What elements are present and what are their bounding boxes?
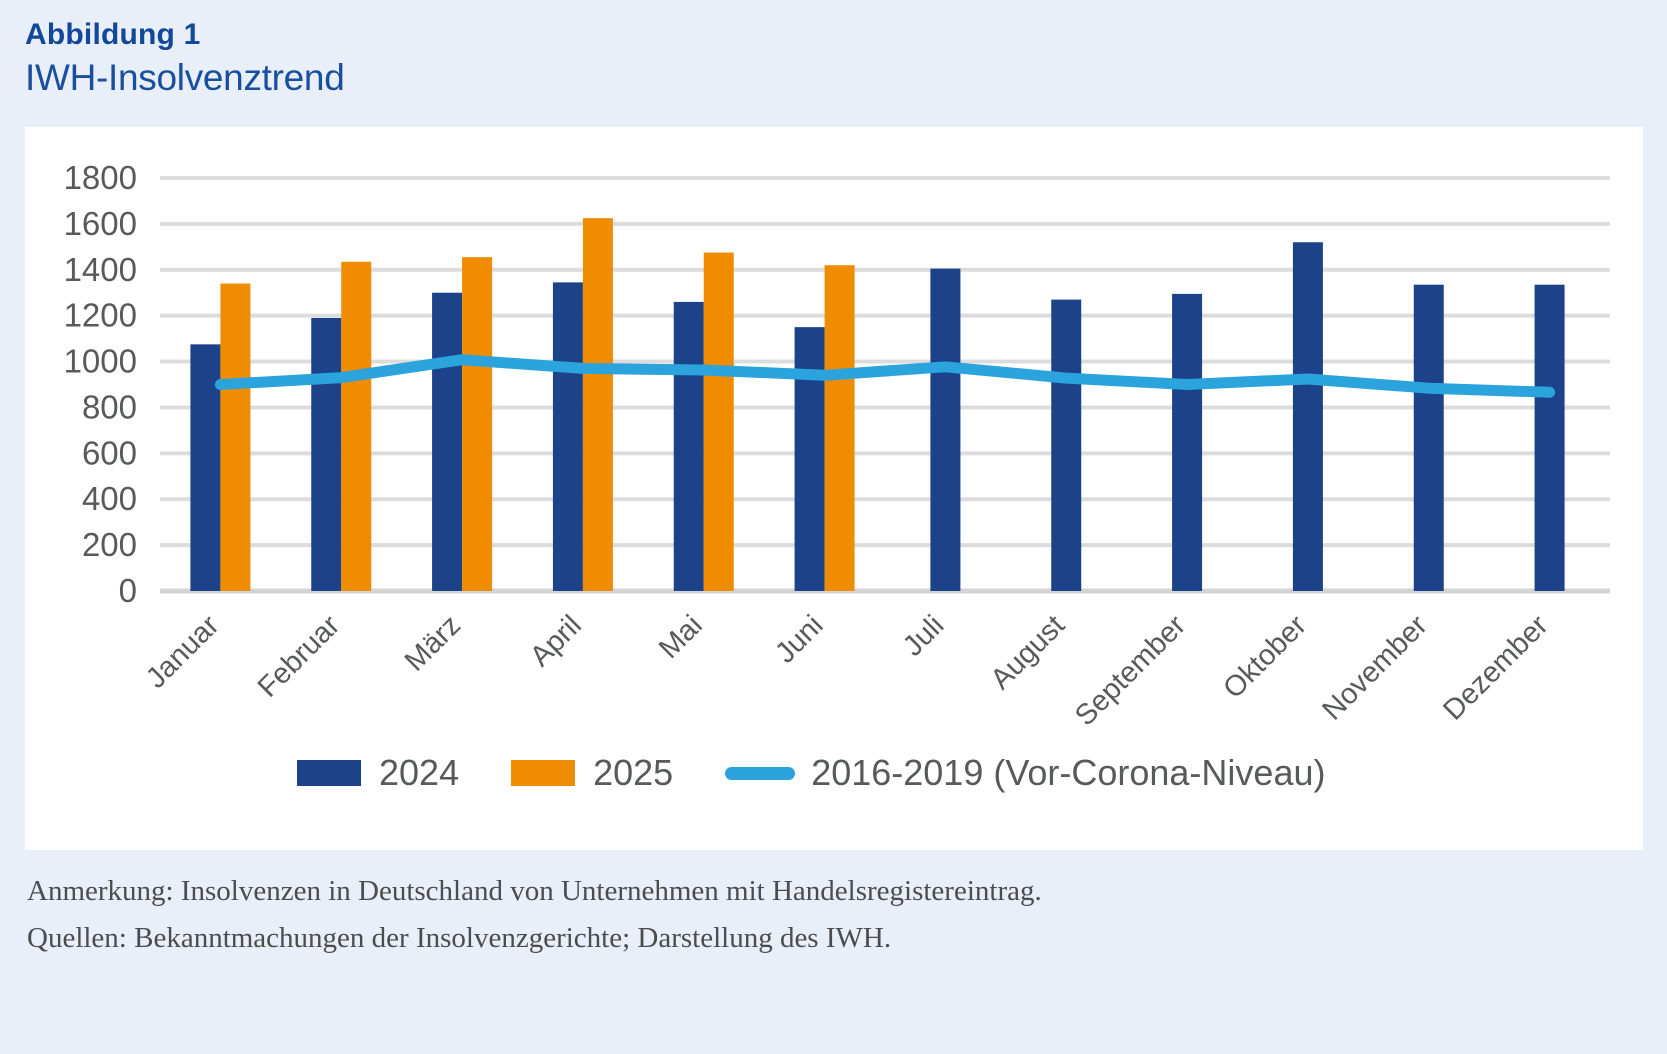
figure-label: Abbildung 1 <box>25 18 1425 51</box>
bars-group <box>190 218 1564 591</box>
figure-page: Abbildung 1 IWH-Insolvenztrend 020040060… <box>0 0 1667 1054</box>
legend-item-2024[interactable]: 2024 <box>297 752 459 794</box>
bar-2025-juni <box>825 265 855 591</box>
chart-plot-area: 020040060080010001200140016001800 Januar… <box>25 127 1643 747</box>
bar-2024-september <box>1172 294 1202 591</box>
bar-2024-märz <box>432 293 462 591</box>
x-tick-label-februar: Februar <box>252 609 347 704</box>
y-tick-label-1000: 1000 <box>64 343 137 380</box>
legend-label-2024: 2024 <box>379 752 459 794</box>
bar-2024-februar <box>311 318 341 591</box>
y-axis-ticks-group: 020040060080010001200140016001800 <box>64 159 137 609</box>
chart-card: 020040060080010001200140016001800 Januar… <box>25 127 1643 850</box>
bar-2025-april <box>583 218 613 591</box>
figure-notes: Anmerkung: Insolvenzen in Deutschland vo… <box>27 868 1627 962</box>
bar-2024-august <box>1051 300 1081 591</box>
y-tick-label-1400: 1400 <box>64 251 137 288</box>
bar-2025-februar <box>341 262 371 591</box>
legend-item-2025[interactable]: 2025 <box>511 752 673 794</box>
x-tick-label-oktober: Oktober <box>1217 609 1313 705</box>
x-tick-label-august: August <box>985 609 1071 695</box>
legend-swatch-2024 <box>297 760 361 786</box>
bar-2024-april <box>553 282 583 591</box>
bar-2024-juli <box>930 269 960 591</box>
x-tick-label-mai: Mai <box>653 609 709 665</box>
bar-2024-juni <box>795 327 825 591</box>
x-tick-label-september: September <box>1069 609 1192 732</box>
bar-2025-mai <box>704 253 734 591</box>
note-anmerkung: Anmerkung: Insolvenzen in Deutschland vo… <box>27 868 1627 915</box>
bar-2025-januar <box>220 284 250 591</box>
y-tick-label-600: 600 <box>82 434 137 471</box>
chart-legend: 2024 2025 2016-2019 (Vor-Corona-Niveau) <box>25 752 1643 794</box>
precorona-polyline <box>220 360 1549 393</box>
insolvency-chart: 020040060080010001200140016001800 Januar… <box>25 127 1643 747</box>
y-tick-label-1200: 1200 <box>64 297 137 334</box>
bar-2024-mai <box>674 302 704 591</box>
legend-label-2025: 2025 <box>593 752 673 794</box>
x-axis-ticks-group: JanuarFebruarMärzAprilMaiJuniJuliAugustS… <box>140 609 1555 732</box>
x-tick-label-dezember: Dezember <box>1437 609 1554 726</box>
x-tick-label-juli: Juli <box>897 609 950 662</box>
note-quellen: Quellen: Bekanntmachungen der Insolvenzg… <box>27 915 1627 962</box>
bar-2025-märz <box>462 257 492 591</box>
bar-2024-oktober <box>1293 242 1323 591</box>
x-tick-label-april: April <box>524 609 588 673</box>
y-tick-label-800: 800 <box>82 388 137 425</box>
bar-2024-november <box>1414 285 1444 591</box>
legend-line-precorona <box>725 767 795 780</box>
legend-item-precorona[interactable]: 2016-2019 (Vor-Corona-Niveau) <box>725 752 1325 794</box>
page-title: IWH-Insolvenztrend <box>25 55 1425 101</box>
x-tick-label-november: November <box>1316 609 1433 726</box>
bar-2024-dezember <box>1535 285 1565 591</box>
x-tick-label-januar: Januar <box>140 609 226 695</box>
y-tick-label-1600: 1600 <box>64 205 137 242</box>
y-tick-label-0: 0 <box>119 572 137 609</box>
legend-label-precorona: 2016-2019 (Vor-Corona-Niveau) <box>811 752 1325 794</box>
figure-header: Abbildung 1 IWH-Insolvenztrend <box>25 18 1425 101</box>
y-tick-label-400: 400 <box>82 480 137 517</box>
x-tick-label-märz: März <box>399 609 467 677</box>
y-tick-label-1800: 1800 <box>64 159 137 196</box>
y-tick-label-200: 200 <box>82 526 137 563</box>
precorona-line-group <box>220 360 1549 393</box>
x-tick-label-juni: Juni <box>769 609 829 669</box>
legend-swatch-2025 <box>511 760 575 786</box>
